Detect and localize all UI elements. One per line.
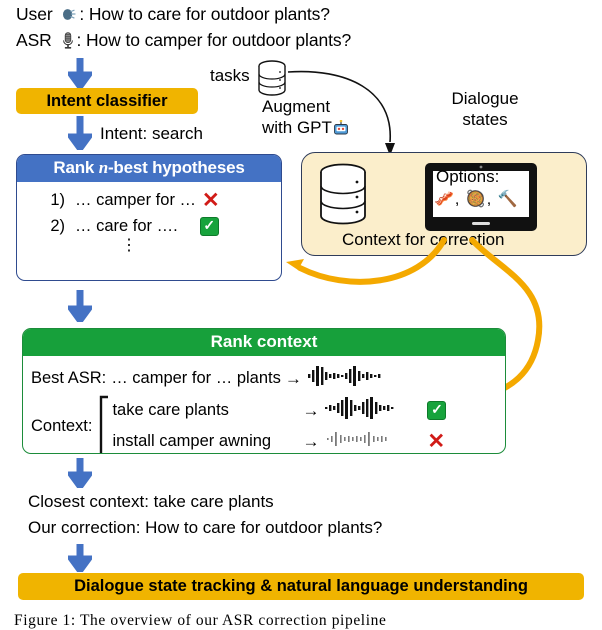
rank-nbest-title-post: -best hypotheses [108,158,245,177]
rank-nbest-title: Rank n-best hypotheses [17,155,281,182]
waveform-context-1 [323,396,423,425]
intent-output-label: Intent: search [100,124,203,144]
context-database-icon [318,163,368,230]
hypothesis-1-number: 1) [35,191,65,210]
hypothesis-ellipsis: ⋮ [17,242,281,250]
arrow-hypotheses-to-rankcontext [68,290,92,327]
hypothesis-row-1[interactable]: 1) … camper for … ✕ [17,190,281,211]
asr-colon: : [76,30,86,50]
hypothesis-2-text: … care for …. [75,217,178,236]
robot-icon [333,120,349,141]
cross-icon: ✕ [202,190,220,211]
user-label: User [16,4,53,24]
user-utterance-line: User : How to care for outdoor plants? [16,6,330,27]
check-icon: ✓ [427,401,446,420]
context-row-2-arrow: → [298,432,323,452]
context-row-2-text: install camper awning [112,432,298,451]
arrow-rankcontext-to-results [68,458,92,493]
rank-context-box[interactable]: Rank context Best ASR: … camper for … pl… [22,328,506,454]
tablet-options-label: Options: [436,167,499,187]
user-text: How to care for outdoor plants? [89,4,330,24]
context-row-1-text: take care plants [112,401,298,420]
rank-nbest-hypotheses-box[interactable]: Rank n-best hypotheses 1) … camper for …… [16,154,282,281]
rank-nbest-title-pre: Rank [53,158,98,177]
best-asr-arrow: → [281,369,306,389]
speaking-head-icon [61,7,77,27]
context-rows-group: Context: take care plants → [31,395,505,454]
best-asr-label: Best ASR: [31,369,106,388]
context-row-2[interactable]: install camper awning → [112,427,446,454]
tasks-label: tasks [210,66,250,86]
asr-text: How to camper for outdoor plants? [86,30,351,50]
hypothesis-1-text: … camper for … [75,191,196,210]
dst-nlu-label: Dialogue state tracking & natural langua… [74,577,528,596]
microphone-icon [62,32,74,53]
intent-classifier-box[interactable]: Intent classifier [16,88,198,114]
context-brace [96,395,110,454]
dialogue-states-label: Dialogue states [420,88,550,130]
best-asr-text: … camper for … plants [111,369,281,388]
our-correction-line: Our correction: How to care for outdoor … [28,518,382,538]
tablet-options-items: 🥓, 🥘, 🔨 [434,189,519,209]
context-rows: take care plants → [112,396,446,454]
waveform-context-2 [323,427,423,454]
best-asr-row: Best ASR: … camper for … plants → [31,364,505,393]
rank-nbest-title-n: n [99,158,108,177]
augment-label: Augment with GPT [262,96,372,141]
context-row-1[interactable]: take care plants → [112,396,446,425]
check-icon: ✓ [200,217,219,236]
closest-context-line: Closest context: take care plants [28,492,274,512]
database-icon [257,60,287,101]
dialogue-states-line2: states [420,109,550,130]
dst-nlu-box[interactable]: Dialogue state tracking & natural langua… [18,573,584,600]
asr-label: ASR [16,30,52,50]
rank-context-title: Rank context [23,329,505,356]
context-label: Context: [31,417,92,436]
figure-caption: Figure 1: The overview of our ASR correc… [14,612,386,630]
intent-classifier-label: Intent classifier [46,92,167,111]
hypothesis-row-2[interactable]: 2) … care for …. ✓ [17,217,281,236]
augment-line2: with GPT [262,118,332,137]
dialogue-states-line1: Dialogue [420,88,550,109]
context-row-1-arrow: → [298,401,323,421]
augment-line1: Augment [262,96,372,117]
arrow-intent-to-rank [68,116,92,155]
cross-icon: ✕ [427,431,445,452]
hypothesis-2-number: 2) [35,217,65,236]
waveform-best-asr [306,364,406,393]
user-colon: : [79,4,89,24]
asr-utterance-line: ASR : How to camper for outdoor plants? [16,32,351,53]
